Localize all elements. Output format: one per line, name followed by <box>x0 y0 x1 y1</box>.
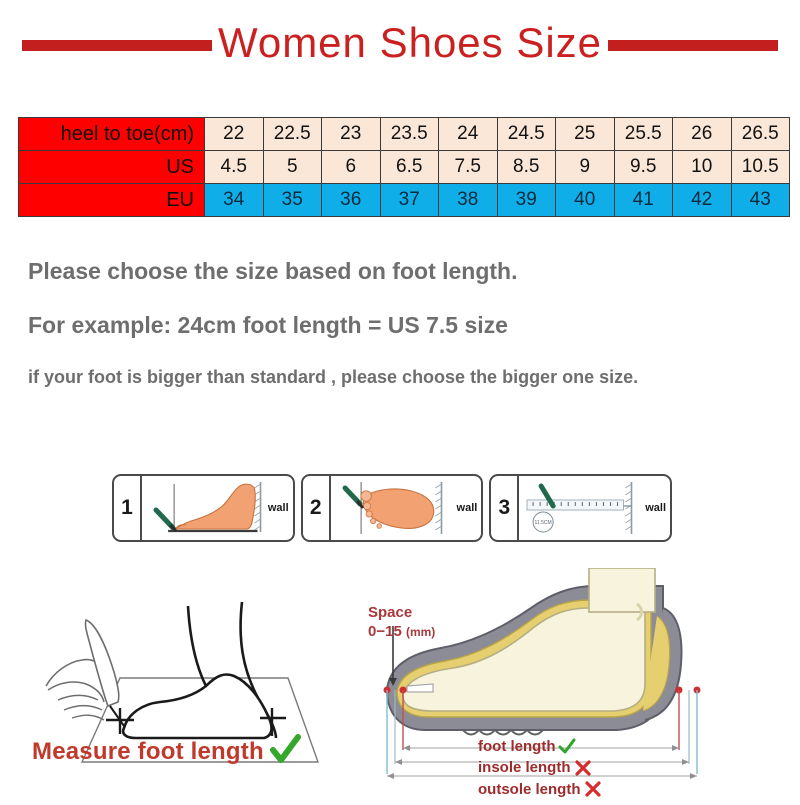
table-row-us: US 4.5 5 6 6.5 7.5 8.5 9 9.5 10 10.5 <box>19 151 790 184</box>
row-label-heel-to-toe: heel to toe(cm) <box>19 118 205 151</box>
table-row-cm: heel to toe(cm) 22 22.5 23 23.5 24 24.5 … <box>19 118 790 151</box>
cell-cm-1: 22.5 <box>263 118 322 151</box>
page-title-row: Women Shoes Size <box>0 14 800 76</box>
cell-us-0: 4.5 <box>205 151 264 184</box>
cell-us-1: 5 <box>263 151 322 184</box>
cell-cm-6: 25 <box>556 118 615 151</box>
cell-us-4: 7.5 <box>439 151 498 184</box>
cell-us-3: 6.5 <box>380 151 439 184</box>
red-x-icon <box>574 759 592 777</box>
cell-eu-9: 43 <box>731 184 790 217</box>
title-bar-left-decoration <box>22 40 212 51</box>
step-number-2: 2 <box>303 476 331 540</box>
cell-eu-2: 36 <box>322 184 381 217</box>
cell-cm-0: 22 <box>205 118 264 151</box>
cell-eu-0: 34 <box>205 184 264 217</box>
space-label-line1: Space <box>368 604 435 623</box>
cell-eu-4: 38 <box>439 184 498 217</box>
row-label-us: US <box>19 151 205 184</box>
instruction-line-2: For example: 24cm foot length = US 7.5 s… <box>28 312 778 339</box>
cell-us-5: 8.5 <box>497 151 556 184</box>
row-label-eu: EU <box>19 184 205 217</box>
step-illustration-1: wall <box>142 476 293 540</box>
dimension-label-insole-length: insole length <box>478 757 571 778</box>
cell-cm-3: 23.5 <box>380 118 439 151</box>
cell-us-7: 9.5 <box>614 151 673 184</box>
red-x-icon <box>584 780 602 798</box>
green-check-icon <box>268 733 302 767</box>
step-illustration-2: wall <box>331 476 482 540</box>
dimension-row-insole-length: insole length <box>478 757 602 778</box>
table-row-eu: EU 34 35 36 37 38 39 40 41 42 43 <box>19 184 790 217</box>
space-label-unit: (mm) <box>406 625 435 639</box>
cell-eu-5: 39 <box>497 184 556 217</box>
cell-cm-8: 26 <box>673 118 732 151</box>
step-box-2: 2 <box>301 474 484 542</box>
wall-label-1: wall <box>268 502 289 514</box>
title-bar-right-decoration <box>608 40 778 51</box>
cell-us-8: 10 <box>673 151 732 184</box>
size-conversion-table: heel to toe(cm) 22 22.5 23 23.5 24 24.5 … <box>18 117 790 217</box>
measuring-steps: 1 <box>112 474 672 542</box>
space-label-value: 0−15 <box>368 623 402 640</box>
step-number-3: 3 <box>491 476 519 540</box>
page-title: Women Shoes Size <box>218 22 602 68</box>
cell-eu-7: 41 <box>614 184 673 217</box>
cell-cm-5: 24.5 <box>497 118 556 151</box>
instructions-block: Please choose the size based on foot len… <box>28 258 778 388</box>
cell-eu-6: 40 <box>556 184 615 217</box>
dimension-row-foot-length: foot length <box>478 736 602 757</box>
dimension-label-outsole-length: outsole length <box>478 779 581 800</box>
cell-us-6: 9 <box>556 151 615 184</box>
dimension-row-outsole-length: outsole length <box>478 779 602 800</box>
cell-eu-8: 42 <box>673 184 732 217</box>
cell-eu-3: 37 <box>380 184 439 217</box>
instruction-line-3: if your foot is bigger than standard , p… <box>28 367 778 388</box>
wall-label-2: wall <box>457 502 478 514</box>
dimension-labels: foot length insole length outsole length <box>478 736 602 800</box>
cell-us-9: 10.5 <box>731 151 790 184</box>
cell-us-2: 6 <box>322 151 381 184</box>
cell-cm-7: 25.5 <box>614 118 673 151</box>
green-check-icon <box>558 738 576 756</box>
step-illustration-3: 11.5CM wall <box>519 476 670 540</box>
step-box-1: 1 <box>112 474 295 542</box>
step-box-3: 3 <box>489 474 672 542</box>
dimension-label-foot-length: foot length <box>478 736 555 757</box>
space-annotation: Space 0−15 (mm) <box>368 604 435 642</box>
cell-cm-2: 23 <box>322 118 381 151</box>
cell-eu-1: 35 <box>263 184 322 217</box>
cell-cm-9: 26.5 <box>731 118 790 151</box>
instruction-line-1: Please choose the size based on foot len… <box>28 258 778 285</box>
wall-label-3: wall <box>645 502 666 514</box>
measure-caption: Measure foot length <box>32 738 264 766</box>
svg-text:11.5CM: 11.5CM <box>535 520 552 526</box>
cell-cm-4: 24 <box>439 118 498 151</box>
step-number-1: 1 <box>114 476 142 540</box>
